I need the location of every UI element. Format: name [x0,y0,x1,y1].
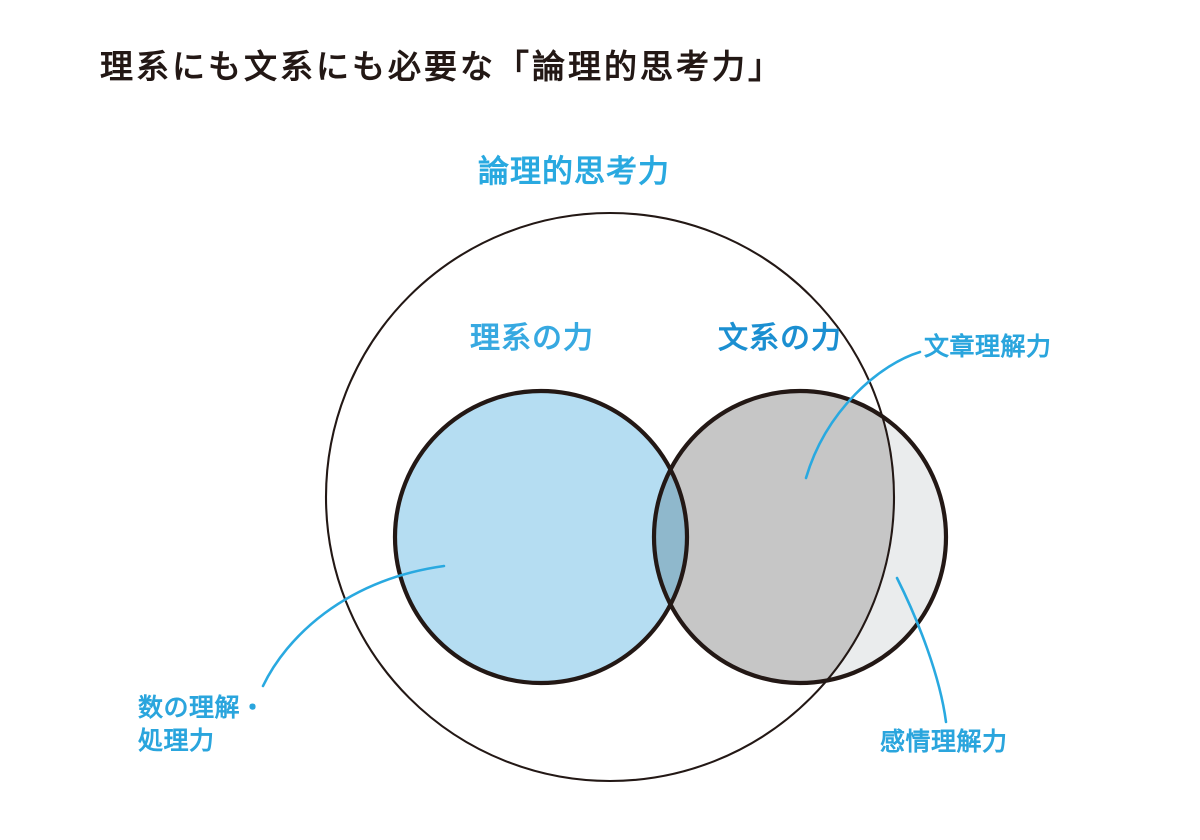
callout-label-bunsho-rikai-ryoku: 文章理解力 [924,331,1052,364]
left-set-label: 理系の力 [470,319,594,359]
right-set-label: 文系の力 [718,319,842,359]
outer-set-label: 論理的思考力 [478,152,670,193]
callout-label-line-2: 処理力 [138,725,266,758]
callout-label-kazu-no-rikai-shori-ryoku: 数の理解・ 処理力 [138,692,266,758]
callout-label-kanjo-rikai-ryoku: 感情理解力 [880,726,1008,759]
callout-label-line-1: 数の理解・ [138,692,266,725]
diagram-canvas: 理系にも文系にも必要な「論理的思考力」 論理的思考力 理系の力 文系の力 文章理… [0,0,1200,840]
page-title: 理系にも文系にも必要な「論理的思考力」 [100,40,784,88]
